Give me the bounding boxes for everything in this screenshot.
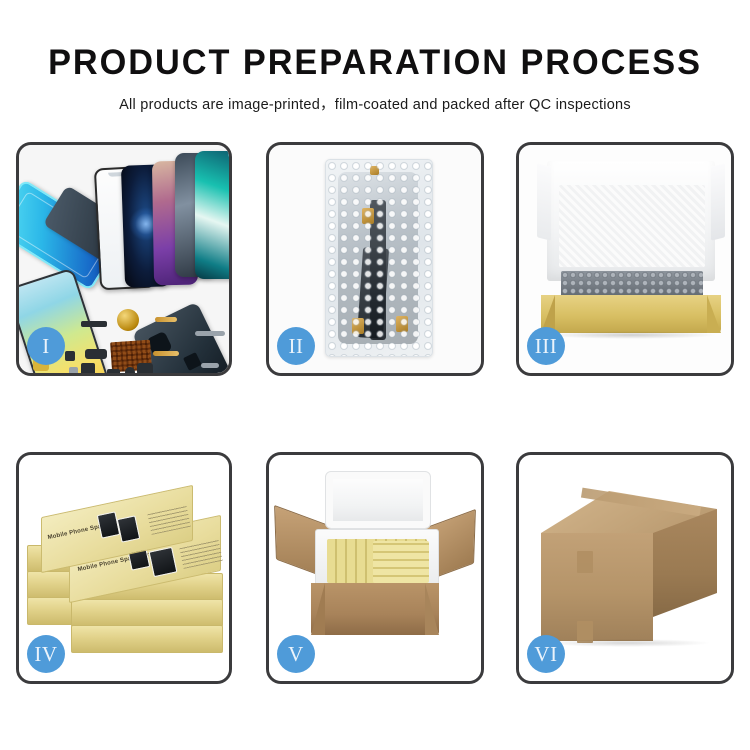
step-panel-3[interactable]: III [516,142,734,376]
part-strip-1 [81,321,107,327]
yellow-boxes-inside-2 [373,541,429,583]
step-badge-6: VI [527,635,565,673]
step-badge-3: III [527,327,565,365]
step-numeral: II [289,336,304,357]
part-screw-set [65,351,75,361]
phone-teal-gradient [195,151,229,279]
step-panel-6[interactable]: VI [516,452,734,684]
part-connector-2 [81,363,95,373]
box-product-image [149,547,178,577]
tool-screwdriver [201,363,219,368]
part-connector-1 [85,349,107,359]
part-flex-cable-1 [155,317,177,322]
page-title: PRODUCT PREPARATION PROCESS [8,45,743,80]
step-badge-4: IV [27,635,65,673]
yellow-box-body [541,295,721,333]
foam-sheet [559,185,705,267]
step-numeral: V [288,644,304,665]
part-speaker-round [125,367,135,373]
step-numeral: IV [34,644,57,665]
gold-component-icon [117,309,139,331]
carton-front-face [541,533,653,641]
stacked-box [71,625,223,653]
box-shadow [543,639,711,647]
page-subtitle: All products are image-printed，film-coat… [0,93,750,114]
bubble-texture-overlay [326,160,432,356]
foam-box-lid [325,471,431,529]
carton-body [311,583,439,635]
part-flex-cable-2 [153,351,179,356]
step-numeral: III [535,336,557,357]
step-numeral: VI [534,644,557,665]
product-preparation-infographic: PRODUCT PREPARATION PROCESS All products… [0,0,750,750]
step-badge-5: V [277,635,315,673]
header: PRODUCT PREPARATION PROCESS All products… [0,0,750,114]
step-panel-4[interactable]: Mobile Phone Spare Parts Mobile Phone Sp… [16,452,232,684]
bubble-wrap-bag [325,159,433,357]
step-panel-5[interactable]: V [266,452,484,684]
step-panel-1[interactable]: I [16,142,232,376]
box-shadow [545,331,717,339]
box-stack: Mobile Phone Spare Parts Mobile Phone Sp… [25,479,229,659]
part-vibrator [137,363,153,373]
tool-tweezers [195,331,225,336]
step-numeral: I [42,336,50,357]
step-badge-2: II [277,327,315,365]
step-badge-1: I [27,327,65,365]
step-panel-2[interactable]: II [266,142,484,376]
stacked-box [71,599,223,627]
part-sim-tray [69,367,78,373]
carton-tape-upper [577,551,593,573]
part-camera-module [107,369,120,373]
